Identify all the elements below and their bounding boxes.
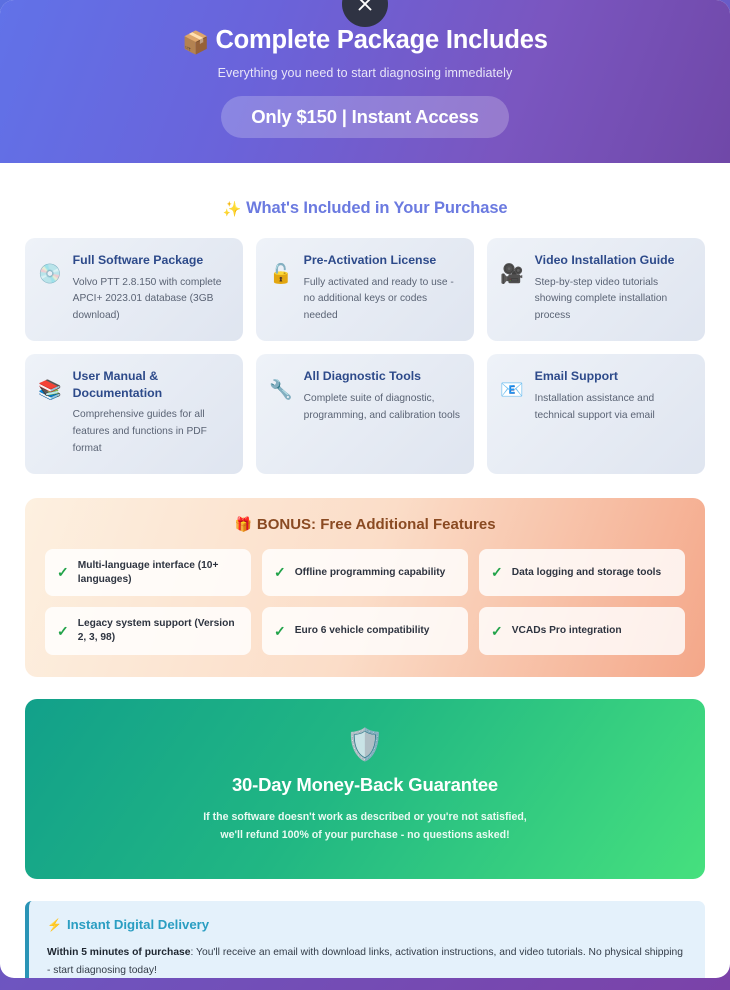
- feature-grid-row-1: 💿 Full Software Package Volvo PTT 2.8.15…: [25, 238, 705, 341]
- movie-camera-icon: 🎥: [500, 252, 524, 287]
- bonus-section-title-text: BONUS: Free Additional Features: [257, 516, 496, 533]
- page-title: 📦Complete Package Includes: [0, 26, 730, 55]
- bonus-item-label: Legacy system support (Version 2, 3, 98): [78, 617, 239, 645]
- included-section-title: ✨What's Included in Your Purchase: [25, 163, 705, 238]
- delivery-body-strong: Within 5 minutes of purchase: [47, 947, 191, 958]
- guarantee-section: 🛡️ 30-Day Money-Back Guarantee If the so…: [25, 699, 705, 879]
- bonus-section: 🎁BONUS: Free Additional Features ✓ Multi…: [25, 498, 705, 677]
- bonus-item: ✓ Legacy system support (Version 2, 3, 9…: [45, 607, 251, 655]
- bonus-item: ✓ Data logging and storage tools: [479, 549, 685, 597]
- feature-card-title: Video Installation Guide: [535, 252, 692, 269]
- feature-card: 📧 Email Support Installation assistance …: [487, 354, 705, 474]
- bonus-item-label: Offline programming capability: [295, 566, 446, 580]
- email-icon: 📧: [500, 368, 524, 403]
- feature-card-description: Complete suite of diagnostic, programmin…: [304, 391, 461, 425]
- feature-card: 🔓 Pre-Activation License Fully activated…: [256, 238, 474, 341]
- bonus-item: ✓ Multi-language interface (10+ language…: [45, 549, 251, 597]
- modal-header: 📦Complete Package Includes Everything yo…: [0, 0, 730, 163]
- feature-card: 💿 Full Software Package Volvo PTT 2.8.15…: [25, 238, 243, 341]
- feature-card-title: Email Support: [535, 368, 692, 385]
- bonus-item-label: Data logging and storage tools: [512, 566, 661, 580]
- bonus-item: ✓ VCADs Pro integration: [479, 607, 685, 655]
- package-box-icon: 📦: [182, 30, 209, 55]
- modal-body: ✨What's Included in Your Purchase 💿 Full…: [0, 163, 730, 978]
- feature-card-title: Pre-Activation License: [304, 252, 461, 269]
- shield-icon: 🛡️: [45, 729, 685, 760]
- feature-card-description: Fully activated and ready to use - no ad…: [304, 275, 461, 325]
- feature-card-description: Step-by-step video tutorials showing com…: [535, 275, 692, 325]
- feature-card: 🎥 Video Installation Guide Step-by-step …: [487, 238, 705, 341]
- bonus-grid: ✓ Multi-language interface (10+ language…: [45, 549, 685, 655]
- check-icon: ✓: [274, 564, 286, 581]
- books-icon: 📚: [38, 368, 62, 403]
- feature-card-description: Comprehensive guides for all features an…: [73, 407, 230, 457]
- feature-card-title: Full Software Package: [73, 252, 230, 269]
- wrench-icon: 🔧: [269, 368, 293, 403]
- gift-icon: 🎁: [234, 516, 251, 532]
- bonus-item-label: Multi-language interface (10+ languages): [78, 559, 239, 587]
- check-icon: ✓: [57, 623, 69, 640]
- check-icon: ✓: [491, 564, 503, 581]
- guarantee-text-line-2: we'll refund 100% of your purchase - no …: [45, 826, 685, 845]
- delivery-title-text: Instant Digital Delivery: [67, 917, 209, 932]
- feature-card-title: User Manual & Documentation: [73, 368, 230, 401]
- header-subtitle: Everything you need to start diagnosing …: [0, 66, 730, 80]
- bonus-item-label: Euro 6 vehicle compatibility: [295, 624, 430, 638]
- check-icon: ✓: [274, 623, 286, 640]
- guarantee-title: 30-Day Money-Back Guarantee: [45, 774, 685, 796]
- unlocked-padlock-icon: 🔓: [269, 252, 293, 287]
- included-section-title-text: What's Included in Your Purchase: [246, 199, 507, 217]
- bonus-item: ✓ Offline programming capability: [262, 549, 468, 597]
- feature-card: 📚 User Manual & Documentation Comprehens…: [25, 354, 243, 474]
- feature-grid-row-2: 📚 User Manual & Documentation Comprehens…: [25, 354, 705, 474]
- bonus-section-title: 🎁BONUS: Free Additional Features: [45, 516, 685, 533]
- optical-disc-icon: 💿: [38, 252, 62, 287]
- page-title-text: Complete Package Includes: [215, 26, 547, 54]
- delivery-body: Within 5 minutes of purchase: You'll rec…: [47, 944, 687, 978]
- guarantee-text-line-1: If the software doesn't work as describe…: [45, 808, 685, 827]
- check-icon: ✓: [57, 564, 69, 581]
- feature-card-description: Volvo PTT 2.8.150 with complete APCI+ 20…: [73, 275, 230, 325]
- delivery-section: ⚡Instant Digital Delivery Within 5 minut…: [25, 901, 705, 978]
- bonus-item-label: VCADs Pro integration: [512, 624, 622, 638]
- feature-card-title: All Diagnostic Tools: [304, 368, 461, 385]
- delivery-title: ⚡Instant Digital Delivery: [47, 917, 687, 932]
- bonus-item: ✓ Euro 6 vehicle compatibility: [262, 607, 468, 655]
- package-details-modal: 📦Complete Package Includes Everything yo…: [0, 0, 730, 978]
- price-badge[interactable]: Only $150 | Instant Access: [221, 96, 509, 138]
- check-icon: ✓: [491, 623, 503, 640]
- guarantee-text: If the software doesn't work as describe…: [45, 808, 685, 845]
- close-icon[interactable]: [342, 0, 388, 27]
- lightning-bolt-icon: ⚡: [47, 918, 62, 932]
- sparkles-icon: ✨: [223, 201, 242, 218]
- feature-card-description: Installation assistance and technical su…: [535, 391, 692, 425]
- feature-card: 🔧 All Diagnostic Tools Complete suite of…: [256, 354, 474, 474]
